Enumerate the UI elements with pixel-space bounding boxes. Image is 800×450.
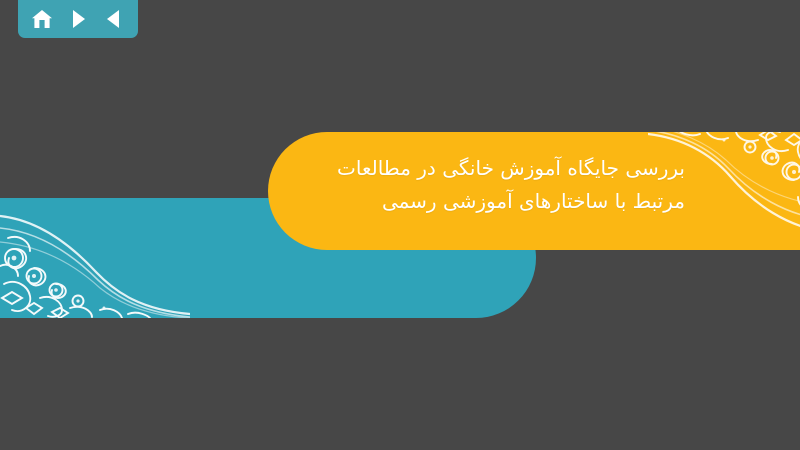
forward-button[interactable] bbox=[65, 7, 91, 31]
slide-title: بررسی جایگاه آموزش خانگی در مطالعات مرتب… bbox=[300, 152, 685, 218]
slide-title-line-2: مرتبط با ساختارهای آموزشی رسمی bbox=[300, 185, 685, 218]
slide-title-line-1: بررسی جایگاه آموزش خانگی در مطالعات bbox=[300, 152, 685, 185]
slide-canvas: بررسی جایگاه آموزش خانگی در مطالعات مرتب… bbox=[0, 0, 800, 450]
teal-arabesque-ornament bbox=[0, 198, 190, 318]
navigation-bar bbox=[18, 0, 138, 38]
home-icon bbox=[31, 9, 53, 30]
back-button[interactable] bbox=[101, 7, 127, 31]
triangle-left-icon bbox=[105, 9, 123, 29]
triangle-right-icon bbox=[69, 9, 87, 29]
home-button[interactable] bbox=[29, 7, 55, 31]
